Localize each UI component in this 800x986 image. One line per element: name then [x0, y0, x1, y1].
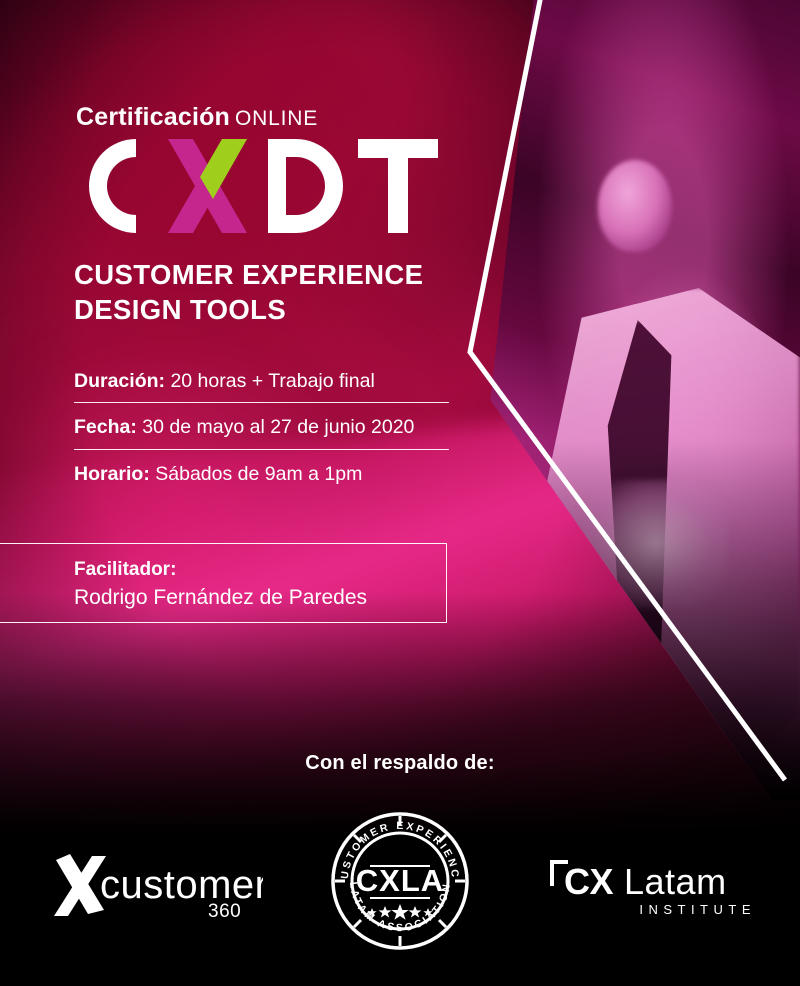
sponsor-logos: customer 360	[0, 800, 800, 970]
facilitator-label: Facilitador:	[74, 557, 446, 583]
detail-label-duracion: Duración:	[74, 370, 165, 392]
detail-row-horario: Horario: Sábados de 9am a 1pm	[74, 459, 449, 493]
logo-cx-latam-institute: CX Latam INSTITUTE	[548, 856, 760, 920]
sponsors-heading: Con el respaldo de:	[0, 752, 800, 775]
eyebrow-bold: Certificación	[76, 103, 230, 131]
xcustomer-360: 360	[208, 901, 241, 922]
xcustomer-x-mark	[54, 854, 106, 916]
logo-xcustomer360: customer 360	[48, 852, 263, 924]
cxlatam-institute: INSTITUTE	[639, 902, 756, 917]
cxdt-wordmark	[72, 133, 442, 239]
subtitle-line-2: DESIGN TOOLS	[74, 293, 423, 328]
course-details: Duración: 20 horas + Trabajo final Fecha…	[74, 366, 449, 493]
detail-label-horario: Horario:	[74, 463, 150, 485]
wordmark-letter-t	[358, 139, 438, 233]
detail-row-duracion: Duración: 20 horas + Trabajo final	[74, 366, 449, 400]
detail-separator-2	[74, 449, 449, 450]
wordmark-letter-x	[168, 139, 247, 233]
detail-value-fecha: 30 de mayo al 27 de junio 2020	[142, 416, 414, 438]
detail-value-duracion: 20 horas + Trabajo final	[170, 370, 374, 392]
page-title: CUSTOMER EXPERIENCE DESIGN TOOLS	[74, 258, 423, 328]
logo-cxla-seal: CUSTOMER EXPERIENCE LATAM ASSOCIATION CX…	[325, 806, 475, 956]
detail-label-fecha: Fecha:	[74, 416, 137, 438]
facilitator-name: Rodrigo Fernández de Paredes	[74, 583, 446, 612]
detail-value-horario: Sábados de 9am a 1pm	[155, 463, 362, 485]
wordmark-letter-c	[89, 139, 136, 233]
detail-separator-1	[74, 402, 449, 403]
eyebrow: CertificaciónONLINE	[76, 103, 318, 132]
detail-row-fecha: Fecha: 30 de mayo al 27 de junio 2020	[74, 412, 449, 446]
eyebrow-light: ONLINE	[235, 107, 318, 130]
subtitle-line-1: CUSTOMER EXPERIENCE	[74, 258, 423, 293]
promo-poster: CertificaciónONLINE CUSTOMER EXPER	[0, 0, 800, 986]
cxlatam-cx: CX	[564, 861, 613, 902]
cxlatam-latam: Latam	[624, 861, 727, 902]
cxla-center-text: CXLA	[356, 863, 444, 898]
facilitator-box: Facilitador: Rodrigo Fernández de Parede…	[0, 543, 447, 623]
wordmark-letter-d	[268, 139, 343, 233]
